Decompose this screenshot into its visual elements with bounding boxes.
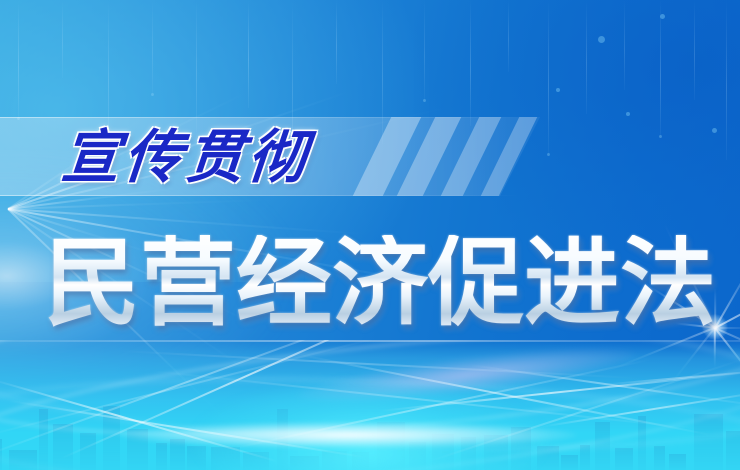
- light-streak-7: [380, 370, 740, 411]
- light-streak-4: [150, 370, 707, 430]
- skyline-building-10: [211, 447, 240, 470]
- title-char-1: 营: [140, 235, 236, 331]
- diagonal-stripe-1: [397, 117, 462, 196]
- skyline-building-19: [461, 437, 476, 470]
- light-streak-5: [230, 359, 651, 450]
- title-char-3: 济: [332, 235, 428, 331]
- light-wave-3: [0, 365, 740, 470]
- rain-line-14: [624, 0, 625, 90]
- diagonal-stripes-decor: [372, 117, 542, 196]
- rain-dot-9: [423, 99, 426, 102]
- diagonal-stripe-0: [353, 117, 422, 196]
- light-streak-10: [540, 388, 740, 427]
- skyline-building-15: [352, 452, 369, 470]
- light-wave-2: [0, 340, 740, 470]
- glow-dot-1: [660, 14, 665, 19]
- skyline-building-18: [432, 434, 454, 470]
- sparkle-beam-10: [714, 260, 740, 328]
- skyline-building-29: [669, 454, 686, 470]
- skyline-building-6: [127, 429, 148, 470]
- kicker-text: 宣传贯彻: [59, 118, 314, 196]
- skyline-building-26: [615, 448, 633, 470]
- bottom-glow-area: [0, 340, 740, 470]
- light-streak-9: [470, 364, 740, 407]
- glow-dot-2: [712, 128, 717, 133]
- skyline-building-25: [595, 422, 610, 470]
- sparkle-beam-0: [715, 327, 740, 329]
- center-cyan-glow: [192, 380, 547, 470]
- skyline-building-14: [322, 451, 347, 470]
- rain-dot-3: [151, 93, 154, 96]
- skyline-building-24: [580, 445, 590, 470]
- skyline-building-5: [103, 406, 120, 470]
- city-skyline-silhouette: [0, 378, 740, 470]
- skyline-building-8: [170, 439, 185, 470]
- skyline-building-7: [156, 443, 167, 470]
- skyline-building-11: [243, 452, 269, 470]
- light-streak-1: [0, 340, 459, 461]
- skyline-building-23: [561, 455, 578, 470]
- rain-dot-12: [547, 153, 550, 156]
- title-char-6: 法: [620, 235, 716, 331]
- diagonal-stripe-3: [481, 117, 538, 196]
- title-char-2: 经: [236, 235, 332, 331]
- rain-line-12: [548, 0, 549, 156]
- skyline-building-9: [187, 446, 206, 470]
- light-wave-1: [0, 340, 740, 469]
- rain-line-9: [424, 0, 425, 102]
- glow-dot-3: [626, 112, 630, 116]
- light-ray-5: [8, 199, 273, 210]
- skyline-building-17: [409, 442, 426, 470]
- page-title: 民营经济促进法: [44, 225, 704, 340]
- bottom-top-edge: [0, 340, 740, 342]
- light-streak-12: [120, 350, 639, 379]
- skyline-building-2: [39, 409, 48, 470]
- rain-line-3: [152, 0, 153, 96]
- skyline-building-0: [0, 439, 2, 470]
- skyline-building-4: [80, 433, 96, 470]
- light-streak-2: [10, 400, 366, 458]
- rain-line-10: [470, 0, 471, 126]
- background-tint-right: [414, 0, 740, 254]
- rain-line-7: [336, 0, 337, 84]
- skyline-building-3: [53, 424, 73, 470]
- poster-banner: 宣传贯彻 民营经济促进法: [0, 0, 740, 470]
- rain-line-0: [18, 0, 19, 120]
- sparkle-beam-11: [715, 273, 740, 329]
- skyline-building-30: [694, 414, 723, 470]
- rain-dot-0: [17, 117, 20, 120]
- skyline-building-22: [537, 446, 559, 470]
- rain-line-16: [694, 0, 695, 100]
- skyline-building-27: [638, 416, 646, 470]
- rain-line-8: [382, 0, 383, 144]
- rain-line-11: [508, 0, 509, 72]
- light-streak-6: [300, 354, 713, 436]
- title-char-4: 促: [428, 235, 524, 331]
- skyline-building-20: [484, 435, 508, 470]
- light-wave-0: [0, 340, 740, 461]
- title-char-5: 进: [524, 235, 620, 331]
- light-streak-11: [0, 378, 279, 462]
- pink-wisp-decor: [295, 340, 637, 413]
- diagonal-stripe-2: [441, 117, 502, 196]
- glow-dot-4: [556, 88, 560, 92]
- light-streak-3: [60, 340, 481, 459]
- light-streak-13: [600, 368, 740, 385]
- rain-line-17: [726, 0, 727, 160]
- skyline-building-31: [726, 431, 740, 470]
- rain-line-15: [660, 0, 661, 138]
- skyline-building-1: [9, 450, 37, 470]
- rain-line-1: [62, 0, 63, 78]
- title-char-0: 民: [44, 235, 140, 331]
- rain-line-5: [248, 0, 249, 108]
- rain-line-13: [586, 0, 587, 114]
- rain-line-4: [196, 0, 197, 132]
- white-glow-bar: [118, 422, 577, 448]
- skyline-building-28: [654, 446, 665, 470]
- skyline-building-12: [277, 409, 288, 470]
- light-streak-0: [0, 340, 388, 437]
- glow-dot-0: [598, 36, 605, 43]
- light-streak-8: [430, 358, 740, 461]
- skyline-building-16: [377, 422, 405, 470]
- rain-dot-15: [659, 135, 662, 138]
- skyline-building-13: [290, 456, 319, 470]
- skyline-building-21: [511, 427, 531, 470]
